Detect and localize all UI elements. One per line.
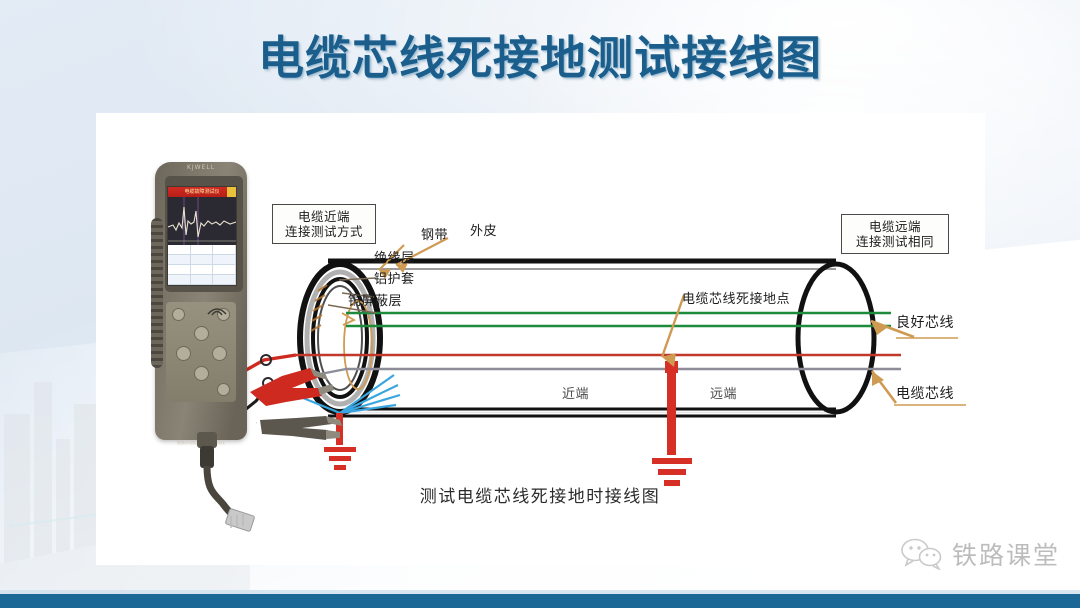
page-title: 电缆芯线死接地测试接线图 bbox=[0, 22, 1080, 88]
cable-right-end-cross-section bbox=[798, 264, 874, 412]
label-near-section: 近端 bbox=[562, 383, 589, 402]
key-left[interactable] bbox=[176, 346, 191, 361]
far-end-note-line1: 电缆远端 bbox=[849, 219, 941, 234]
label-copper-shield: 铜屏蔽层 bbox=[348, 290, 402, 309]
watermark: 铁路课堂 bbox=[900, 536, 1060, 572]
table-row bbox=[168, 275, 236, 285]
waveform-trace bbox=[168, 197, 236, 245]
cable-core-conductors bbox=[296, 313, 901, 369]
label-outer-jacket: 外皮 bbox=[470, 220, 497, 239]
far-end-note-line2: 连接测试相同 bbox=[849, 234, 941, 249]
key-up[interactable] bbox=[194, 326, 209, 341]
near-end-connection-note: 电缆近端 连接测试方式 bbox=[272, 204, 376, 244]
key-right[interactable] bbox=[212, 346, 227, 361]
key-power[interactable] bbox=[172, 308, 185, 321]
near-end-note-line2: 连接测试方式 bbox=[280, 224, 368, 239]
label-good-core: 良好芯线 bbox=[896, 312, 954, 332]
device-side-grip bbox=[151, 218, 163, 368]
label-steel-tape: 钢带 bbox=[421, 224, 448, 243]
label-cable-core: 电缆芯线 bbox=[896, 383, 954, 403]
table-row bbox=[168, 255, 236, 265]
ground-bar-1 bbox=[652, 458, 692, 464]
label-far-section: 远端 bbox=[710, 383, 737, 402]
device-keypad[interactable] bbox=[166, 302, 236, 402]
diagram-caption: 测试电缆芯线死接地时接线图 bbox=[0, 482, 1080, 507]
black-alligator-clip[interactable] bbox=[256, 412, 356, 456]
cable-outer-jacket-bottom bbox=[328, 409, 836, 416]
screen-waveform-area bbox=[168, 197, 236, 245]
device-screen[interactable]: 电缆故障测试仪 bbox=[167, 186, 237, 286]
screen-status-indicator bbox=[227, 187, 236, 197]
wechat-icon bbox=[900, 538, 944, 570]
screen-data-table bbox=[168, 245, 236, 285]
table-row bbox=[168, 245, 236, 255]
screen-titlebar-text: 电缆故障测试仪 bbox=[168, 187, 236, 197]
dead-ground-fault bbox=[652, 361, 692, 486]
far-end-connection-note: 电缆远端 连接测试相同 bbox=[841, 214, 949, 254]
key-down[interactable] bbox=[194, 366, 209, 381]
label-dead-ground-point: 电缆芯线死接地点 bbox=[682, 288, 790, 307]
red-alligator-clip[interactable] bbox=[248, 362, 348, 412]
footer-bar bbox=[0, 594, 1080, 608]
ground-bar-2 bbox=[658, 469, 686, 475]
near-end-note-line1: 电缆近端 bbox=[280, 209, 368, 224]
watermark-text: 铁路课堂 bbox=[952, 536, 1060, 572]
table-row bbox=[168, 265, 236, 275]
slide-root: 电缆芯线死接地测试接线图 bbox=[0, 0, 1080, 608]
key-enter[interactable] bbox=[217, 383, 230, 396]
antenna-icon bbox=[206, 304, 228, 316]
label-aluminium-sheath: 铝护套 bbox=[374, 268, 415, 287]
label-insulation-layer: 绝缘层 bbox=[374, 247, 415, 266]
device-brand-label: KJWELL bbox=[155, 164, 247, 171]
cable-fault-tester-device[interactable]: KJWELL 电缆故障测试仪 bbox=[155, 162, 247, 440]
screen-titlebar: 电缆故障测试仪 bbox=[168, 187, 236, 197]
